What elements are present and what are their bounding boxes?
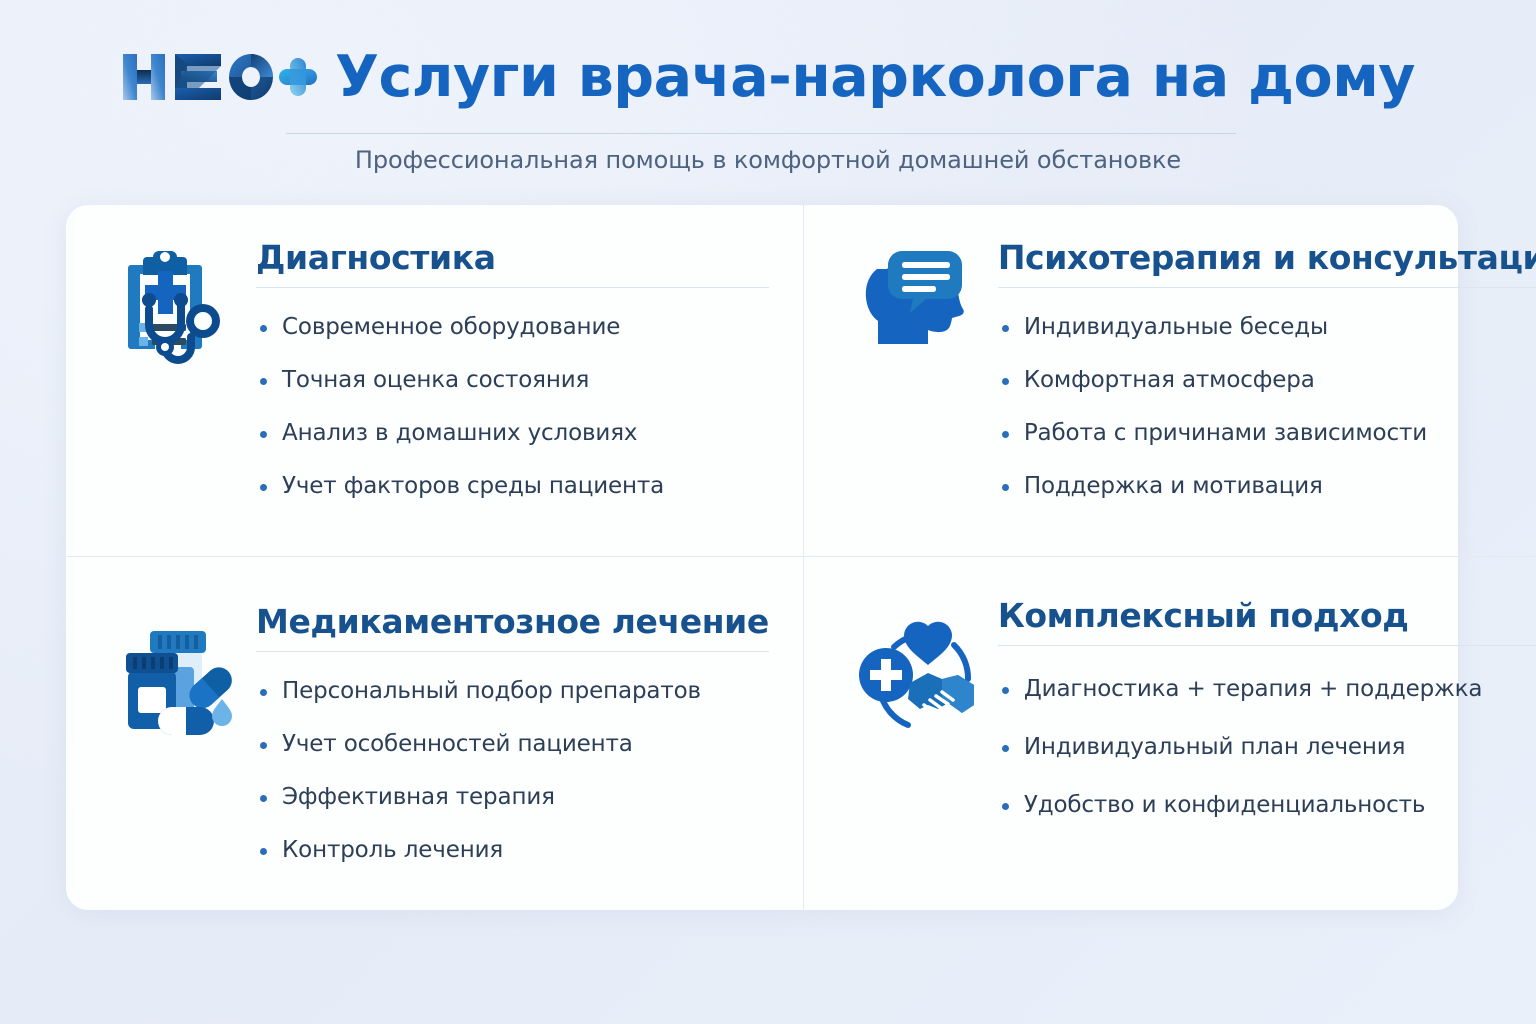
head-speech-bubble-icon <box>852 237 984 377</box>
card-heading-underline <box>998 287 1536 288</box>
list-item: Анализ в домашних условиях <box>256 420 769 447</box>
page-header: Услуги врача-нарколога на дому Профессио… <box>0 0 1536 195</box>
page-title: Услуги врача-нарколога на дому <box>335 49 1415 106</box>
neo-plus-logo <box>121 44 317 110</box>
list-item: Персональный подбор препаратов <box>256 678 769 705</box>
card-heading: Диагностика <box>256 241 769 276</box>
services-panel: Диагностика Современное оборудование Точ… <box>66 205 1458 910</box>
list-item: Учет особенностей пациента <box>256 731 769 758</box>
card-content: Комплексный подход Диагностика + терапия… <box>984 595 1536 850</box>
list-item: Контроль лечения <box>256 837 769 864</box>
brand-row: Услуги врача-нарколога на дому <box>0 44 1536 110</box>
heart-handshake-cross-icon <box>852 595 984 735</box>
list-item: Работа с причинами зависимости <box>998 420 1536 447</box>
card-bullet-list: Индивидуальные беседы Комфортная атмосфе… <box>998 314 1536 501</box>
card-content: Диагностика Современное оборудование Точ… <box>242 237 769 526</box>
list-item: Индивидуальные беседы <box>998 314 1536 341</box>
list-item: Диагностика + терапия + поддержка <box>998 676 1536 703</box>
header-divider <box>286 133 1236 134</box>
card-heading: Комплексный подход <box>998 599 1536 634</box>
list-item: Поддержка и мотивация <box>998 473 1536 500</box>
clipboard-stethoscope-icon <box>110 237 242 377</box>
card-heading-underline <box>256 287 769 288</box>
logo-mark-icon <box>121 44 317 110</box>
service-card-comprehensive: Комплексный подход Диагностика + терапия… <box>804 557 1536 910</box>
service-card-medication: Медикаментозное лечение Персональный под… <box>66 557 804 910</box>
list-item: Удобство и конфиденциальность <box>998 792 1536 819</box>
list-item: Комфортная атмосфера <box>998 367 1536 394</box>
list-item: Индивидуальный план лечения <box>998 734 1536 761</box>
card-content: Психотерапия и консультации Индивидуальн… <box>984 237 1536 526</box>
card-bullet-list: Персональный подбор препаратов Учет особ… <box>256 678 769 865</box>
card-heading: Психотерапия и консультации <box>998 241 1536 276</box>
card-bullet-list: Современное оборудование Точная оценка с… <box>256 314 769 501</box>
card-heading: Медикаментозное лечение <box>256 605 769 640</box>
card-bullet-list: Диагностика + терапия + поддержка Индиви… <box>998 676 1536 819</box>
list-item: Точная оценка состояния <box>256 367 769 394</box>
list-item: Учет факторов среды пациента <box>256 473 769 500</box>
card-heading-underline <box>256 651 769 652</box>
card-content: Медикаментозное лечение Персональный под… <box>242 601 769 890</box>
card-heading-underline <box>998 645 1536 646</box>
list-item: Современное оборудование <box>256 314 769 341</box>
service-card-psychotherapy: Психотерапия и консультации Индивидуальн… <box>804 205 1536 557</box>
pill-bottles-capsules-icon <box>110 601 242 741</box>
page-subtitle: Профессиональная помощь в комфортной дом… <box>0 146 1536 174</box>
service-card-diagnostics: Диагностика Современное оборудование Точ… <box>66 205 804 557</box>
list-item: Эффективная терапия <box>256 784 769 811</box>
